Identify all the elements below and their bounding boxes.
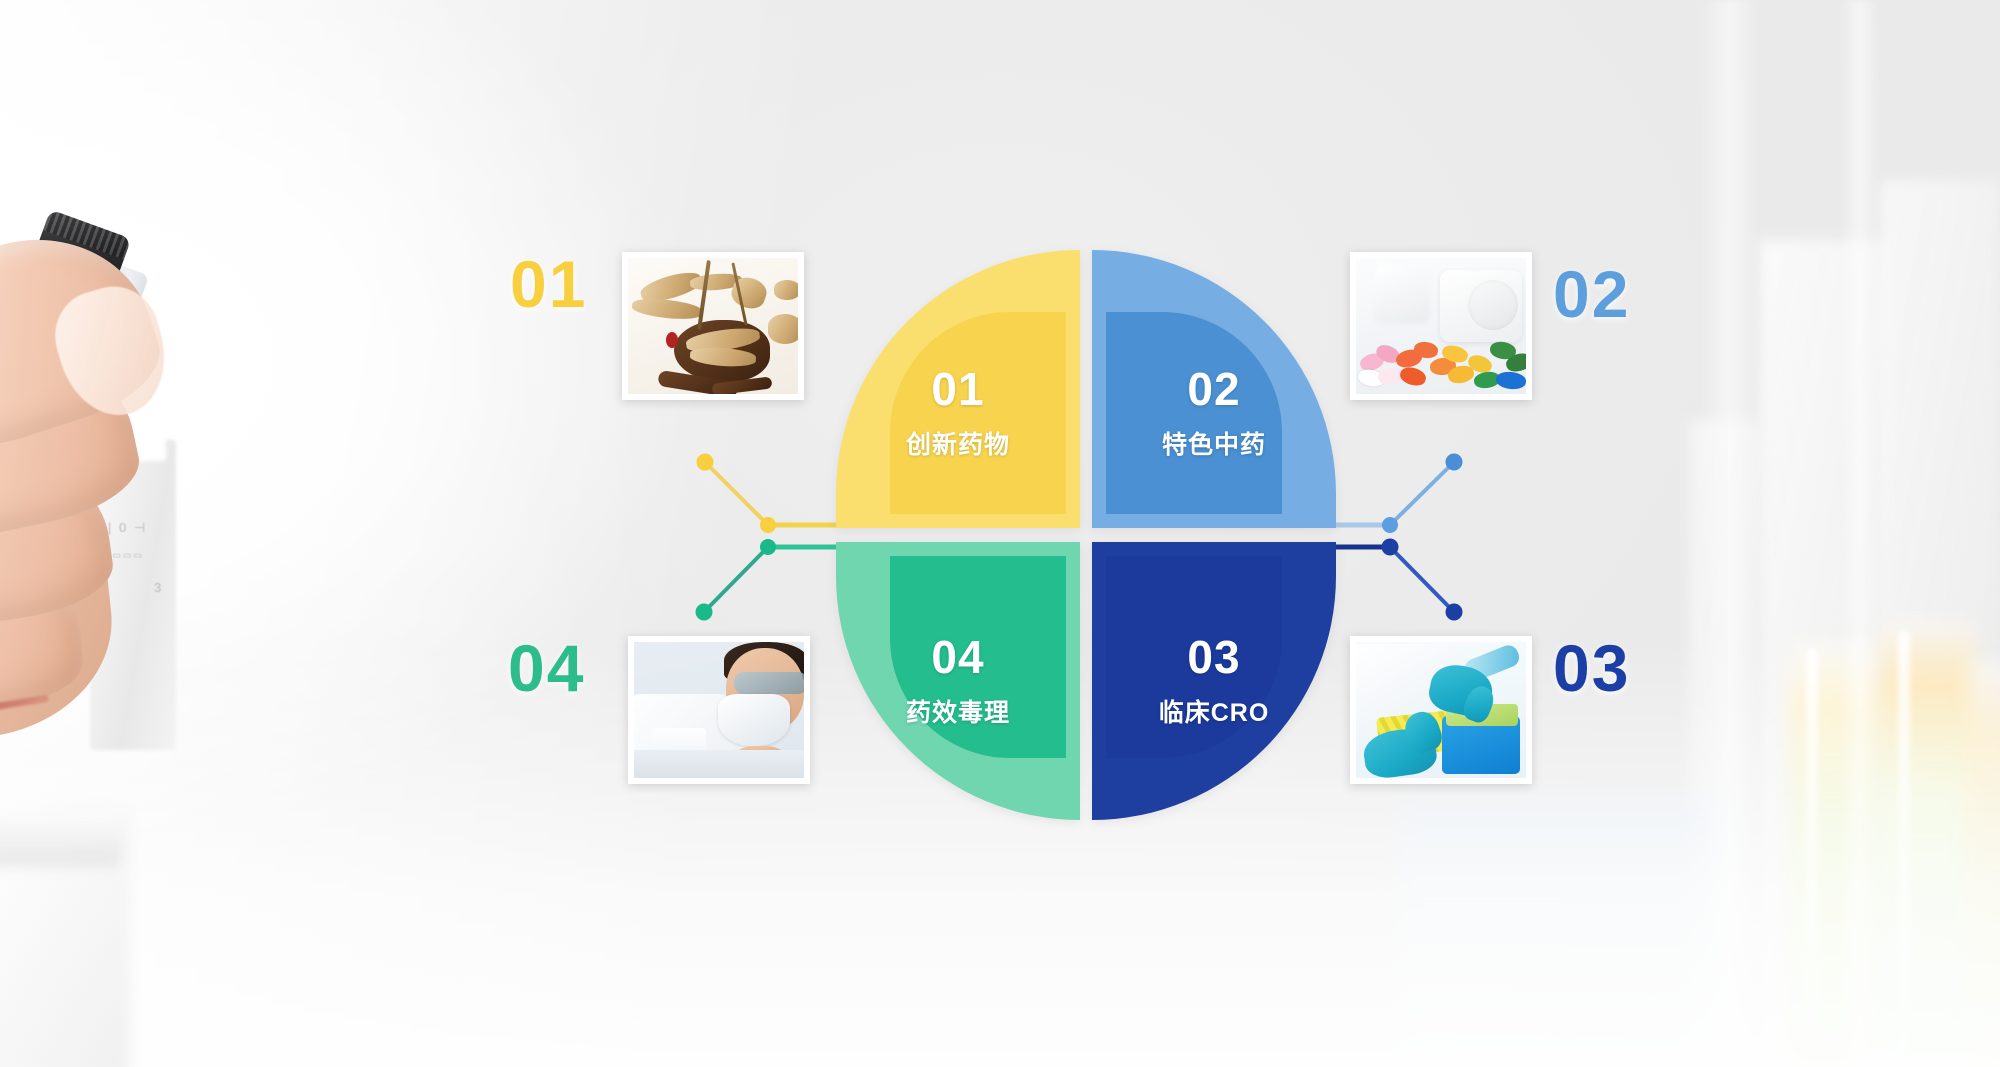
quadrant-wheel: 01 创新药物 02 特色中药 03 临床CRO 04 — [836, 250, 1336, 820]
connector-01-diagonal — [705, 462, 768, 525]
connector-03-diagonal — [1390, 547, 1454, 612]
rack-marking: | 0 ⊣ — [108, 520, 147, 536]
quadrant-03[interactable]: 03 临床CRO — [1092, 542, 1336, 820]
quadrant-04[interactable]: 04 药效毒理 — [836, 542, 1080, 820]
thumbnail-pills-image — [1356, 258, 1526, 394]
thumbnail-herbs[interactable] — [622, 252, 804, 400]
background-jar-cap — [0, 811, 122, 867]
connector-03-end-dot — [1446, 604, 1463, 621]
herb-root — [774, 280, 798, 300]
thumbnail-gloves-image — [1356, 642, 1526, 778]
quadrant-01[interactable]: 01 创新药物 — [836, 250, 1080, 528]
thumbnail-herbs-image — [628, 258, 798, 394]
outer-number-03: 03 — [1553, 630, 1630, 706]
safety-goggles — [734, 672, 804, 694]
hand-holding-test-tube: | 0 ⊣ ▭▭▭▭ 3 — [0, 230, 460, 710]
pill-bottle-back — [1374, 264, 1430, 324]
outer-number-02: 02 — [1553, 256, 1630, 332]
connector-04-node-dot — [760, 539, 776, 555]
rack-marking: 3 — [154, 580, 163, 595]
connector-04-end-dot — [696, 604, 713, 621]
connector-03-node-dot — [1382, 539, 1399, 556]
outer-number-04: 04 — [508, 630, 585, 706]
herb-berry — [666, 332, 678, 348]
thumbnail-researcher[interactable] — [628, 636, 810, 784]
thumbnail-pills[interactable] — [1350, 252, 1532, 400]
outer-number-01: 01 — [510, 246, 587, 322]
face-mask — [718, 694, 790, 746]
lab-bench — [634, 750, 804, 778]
connector-04-diagonal — [704, 547, 768, 612]
connector-01-end-dot — [697, 454, 714, 471]
thumbnail-researcher-image — [634, 642, 804, 778]
connector-02-end-dot — [1446, 454, 1463, 471]
herb-root — [768, 314, 798, 344]
connector-01-node-dot — [760, 517, 776, 533]
scene-root: | 0 ⊣ ▭▭▭▭ 3 — [0, 0, 2000, 1067]
quadrant-02[interactable]: 02 特色中药 — [1092, 250, 1336, 528]
pill-bottle-cap — [1468, 280, 1518, 330]
thumbnail-gloves[interactable] — [1350, 636, 1532, 784]
connector-02-node-dot — [1382, 517, 1398, 533]
connector-02-diagonal — [1390, 462, 1454, 525]
